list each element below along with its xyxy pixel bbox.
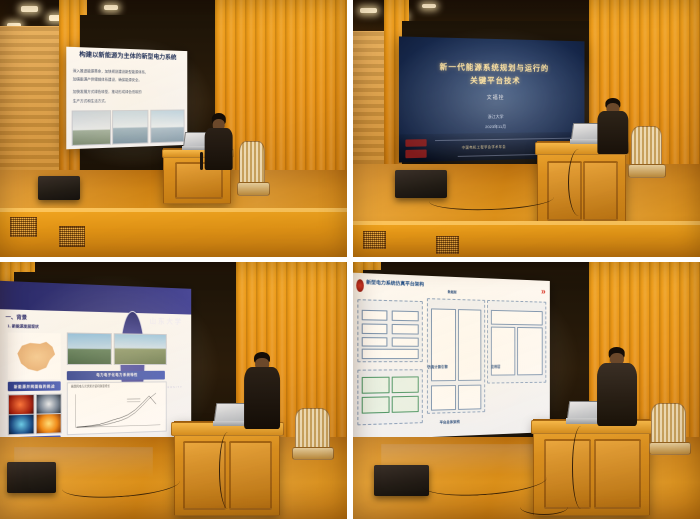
- lecture-hall-scene-1: 构建以新能源为主体的新型电力系统 深入推进能源革命，加快规划建设新型能源体系， …: [0, 0, 347, 257]
- slide-title: 新型电力系统仿真平台架构: [366, 280, 424, 288]
- podium-cable: [219, 432, 237, 509]
- chart-series-wind: [77, 396, 156, 427]
- slide-image-onshore-wind: [67, 332, 112, 365]
- apron-vent: [363, 231, 386, 248]
- slide-content: 新型电力系统仿真平台架构 »: [353, 273, 550, 441]
- architecture-node-highlight: [392, 396, 419, 413]
- slide-footer-text: 中国电机工程学会学术年会: [461, 144, 505, 149]
- architecture-node: [392, 324, 419, 335]
- chart-caption: 我国风电与光伏累计装机容量增长: [72, 385, 111, 389]
- organization-logo-icon: [356, 279, 364, 293]
- apron-vent: [59, 226, 85, 247]
- collage-panel-top-right[interactable]: 新一代能源系统规划与运行的 关键平台技术 文福拴 浙江大学 2023年11月 中…: [353, 0, 700, 257]
- slide-image-solar-activity: [36, 414, 62, 435]
- lecture-hall-scene-2: 新一代能源系统规划与运行的 关键平台技术 文福拴 浙江大学 2023年11月 中…: [353, 0, 700, 257]
- chair-back: [239, 141, 265, 185]
- chart-plot: [73, 392, 163, 431]
- presenter-person: [243, 352, 281, 429]
- projection-screen: 山东大学 SHANDONG UNIVERSITY 一、背景 1. 新能源发展现状…: [0, 281, 192, 449]
- apron-vent: [436, 236, 459, 253]
- ceiling-light: [360, 8, 377, 13]
- slide-image-grid-sim: [8, 414, 35, 435]
- slide-badge: [405, 149, 427, 157]
- architecture-node: [392, 311, 419, 322]
- lecture-hall-scene-4: 新型电力系统仿真平台架构 »: [353, 262, 700, 519]
- architecture-node: [490, 327, 515, 376]
- chevron-double-right-icon: »: [541, 287, 545, 298]
- chair-back: [631, 126, 662, 167]
- slide-section-title: 一、背景: [6, 315, 28, 322]
- collage-panel-bottom-right[interactable]: 新型电力系统仿真平台架构 »: [353, 262, 700, 519]
- chart-series-solar: [77, 393, 156, 427]
- side-wall: [0, 26, 66, 175]
- collage-panel-top-left[interactable]: 构建以新能源为主体的新型电力系统 深入推进能源革命，加快规划建设新型能源体系， …: [0, 0, 347, 257]
- projection-screen: 构建以新能源为主体的新型电力系统 深入推进能源革命，加快规划建设新型能源体系， …: [66, 47, 187, 149]
- floor-cable: [520, 498, 569, 514]
- slide-title-line-1: 新一代能源系统规划与运行的: [415, 61, 571, 73]
- slide-image-offshore-wind: [111, 109, 148, 144]
- architecture-node: [361, 349, 418, 359]
- architecture-node-highlight: [361, 377, 389, 394]
- person-body: [204, 128, 233, 170]
- podium-front-panel: [594, 439, 642, 510]
- chair: [295, 408, 330, 449]
- laptop[interactable]: [215, 403, 246, 426]
- slide-china-map: [8, 333, 61, 380]
- slide-affiliation-1: 浙江大学: [415, 113, 571, 121]
- slide-body-line-4: 生产方式和生活方式。: [73, 99, 182, 105]
- architecture-node: [517, 328, 543, 376]
- stage-apron-edge: [353, 221, 700, 225]
- slide-body-line-2: 加强能源产供储销体系建设，确保能源安全。: [73, 77, 182, 84]
- person-body: [597, 363, 637, 427]
- architecture-node: [457, 385, 480, 410]
- architecture-node: [392, 337, 419, 347]
- laptop[interactable]: [568, 401, 599, 424]
- architecture-label-1: 仿真计算引擎: [427, 365, 447, 369]
- person-body: [244, 367, 280, 429]
- slide-image-plasma: [8, 394, 35, 415]
- slide-image-offshore-wind: [114, 333, 167, 365]
- slide-body-line-1: 深入推进能源革命，加快规划建设新型能源体系，: [73, 68, 182, 76]
- slide-header-university-name: 山东大学: [150, 318, 183, 327]
- stage-monitor-speaker: [38, 176, 80, 200]
- slide-image-powerline: [71, 110, 110, 146]
- slide-subhead-bar-3: 电力电子化电力系统特性: [67, 371, 165, 380]
- slide-title: 构建以新能源为主体的新型电力系统: [71, 51, 182, 62]
- chair: [631, 126, 662, 167]
- slide-subhead-1: 1. 新能源发展现状: [8, 325, 39, 330]
- slide-body-line-3: 加快发展方式绿色转型，推动形成绿色低碳的: [73, 90, 182, 96]
- slide-content: 山东大学 SHANDONG UNIVERSITY 一、背景 1. 新能源发展现状…: [0, 281, 192, 449]
- ceiling-light: [422, 4, 436, 8]
- collage-panel-bottom-left[interactable]: 山东大学 SHANDONG UNIVERSITY 一、背景 1. 新能源发展现状…: [0, 262, 347, 519]
- presenter-person: [596, 98, 631, 155]
- slide-content: 构建以新能源为主体的新型电力系统 深入推进能源革命，加快规划建设新型能源体系， …: [66, 47, 187, 149]
- stage-monitor-speaker: [374, 465, 430, 496]
- stage-apron: [0, 208, 347, 257]
- photo-collage: 构建以新能源为主体的新型电力系统 深入推进能源革命，加快规划建设新型能源体系， …: [0, 0, 700, 519]
- apron-vent: [10, 217, 36, 237]
- architecture-node-highlight: [392, 377, 419, 394]
- architecture-node: [361, 337, 387, 348]
- presenter-person: [596, 347, 638, 427]
- stage-apron: [353, 221, 700, 257]
- ceiling-light: [104, 5, 118, 10]
- chair-back: [295, 408, 330, 449]
- chair-seat: [628, 164, 666, 178]
- slide-subhead-bar-2: 新能源并网面临的挑战: [8, 382, 61, 392]
- slide-badge: [405, 139, 427, 147]
- architecture-node: [457, 309, 480, 381]
- slide-image-typhoon: [36, 394, 62, 415]
- chair-seat: [292, 447, 334, 461]
- architecture-label-3: 数据层: [447, 291, 456, 295]
- architecture-node-highlight: [361, 397, 389, 415]
- podium-cable: [568, 149, 590, 216]
- projection-screen: 新型电力系统仿真平台架构 »: [353, 273, 550, 441]
- speaker-person: [203, 113, 234, 170]
- lecture-hall-scene-3: 山东大学 SHANDONG UNIVERSITY 一、背景 1. 新能源发展现状…: [0, 262, 347, 519]
- architecture-node: [431, 386, 455, 411]
- stage-apron-edge: [0, 208, 347, 212]
- chair-back: [651, 403, 686, 444]
- china-map-shape: [12, 339, 57, 375]
- slide-title-line-2: 关键平台技术: [415, 75, 571, 86]
- architecture-node: [361, 310, 387, 321]
- architecture-label-2: 应用层: [490, 365, 500, 369]
- slide-chart: 我国风电与光伏累计装机容量增长: [67, 382, 167, 435]
- slide-bottom-caption: 平台总体架构: [439, 421, 459, 426]
- architecture-node: [431, 309, 455, 382]
- architecture-node: [361, 324, 387, 335]
- ceiling-light: [21, 6, 38, 12]
- chair-seat: [649, 442, 691, 456]
- slide-image-solar: [149, 109, 184, 143]
- person-body: [598, 111, 629, 154]
- chair: [651, 403, 686, 444]
- chair: [239, 141, 265, 185]
- slide-presenter: 文福拴: [415, 94, 571, 100]
- chair-seat: [237, 182, 269, 196]
- architecture-node: [490, 310, 542, 325]
- stage-monitor-speaker: [7, 462, 56, 493]
- podium-cable: [572, 426, 590, 508]
- slide-affiliation-2: 2023年11月: [415, 122, 571, 130]
